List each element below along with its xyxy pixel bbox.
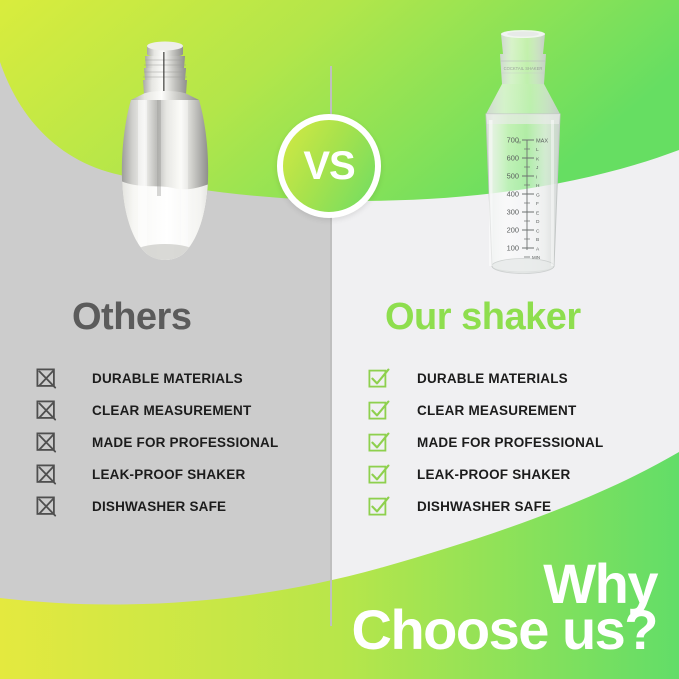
svg-text:G: G: [536, 193, 540, 199]
svg-text:C: C: [536, 229, 540, 235]
svg-text:ml: ml: [517, 141, 521, 145]
svg-text:F: F: [536, 201, 539, 207]
vs-label: VS: [303, 146, 354, 186]
shaker-cap-our: COCKTAIL SHAKER: [486, 30, 560, 114]
svg-text:H: H: [536, 183, 540, 189]
feature-label: MADE FOR PROFESSIONAL: [417, 435, 603, 450]
svg-text:MIN: MIN: [532, 255, 540, 260]
svg-text:COCKTAIL SHAKER: COCKTAIL SHAKER: [504, 66, 543, 71]
check-checkbox-icon: [368, 496, 389, 517]
svg-text:D: D: [536, 219, 540, 225]
feature-label: LEAK-PROOF SHAKER: [92, 467, 245, 482]
product-image-others: [95, 38, 235, 288]
list-item: DISHWASHER SAFE: [36, 490, 278, 522]
svg-text:L: L: [536, 147, 539, 153]
shaker-body-others: [115, 91, 219, 278]
svg-text:300: 300: [507, 208, 519, 217]
svg-text:600: 600: [507, 154, 519, 163]
list-item: MADE FOR PROFESSIONAL: [36, 426, 278, 458]
feature-label: LEAK-PROOF SHAKER: [417, 467, 570, 482]
check-checkbox-icon: [368, 432, 389, 453]
svg-text:I: I: [536, 175, 537, 181]
feature-label: MADE FOR PROFESSIONAL: [92, 435, 278, 450]
svg-text:MAX: MAX: [536, 139, 548, 145]
feature-label: CLEAR MEASUREMENT: [417, 403, 576, 418]
heading-our-shaker: Our shaker: [385, 296, 581, 339]
svg-text:E: E: [536, 211, 539, 217]
cross-checkbox-icon: [36, 464, 57, 485]
heading-others: Others: [72, 296, 191, 339]
list-item: CLEAR MEASUREMENT: [36, 394, 278, 426]
cross-checkbox-icon: [36, 400, 57, 421]
vs-badge: VS: [277, 114, 381, 218]
list-item: DISHWASHER SAFE: [368, 490, 603, 522]
list-item: DURABLE MATERIALS: [368, 362, 603, 394]
svg-text:B: B: [536, 237, 539, 243]
svg-text:200: 200: [507, 226, 519, 235]
cross-checkbox-icon: [36, 432, 57, 453]
svg-text:100: 100: [507, 244, 519, 253]
list-item: MADE FOR PROFESSIONAL: [368, 426, 603, 458]
feature-label: CLEAR MEASUREMENT: [92, 403, 251, 418]
headline-line-2: Choose us?: [352, 604, 657, 656]
shaker-cap-others: [143, 42, 187, 98]
list-item: LEAK-PROOF SHAKER: [36, 458, 278, 490]
check-checkbox-icon: [368, 400, 389, 421]
check-checkbox-icon: [368, 368, 389, 389]
feature-label: DURABLE MATERIALS: [417, 371, 568, 386]
cross-checkbox-icon: [36, 496, 57, 517]
list-item: DURABLE MATERIALS: [36, 362, 278, 394]
feature-label: DURABLE MATERIALS: [92, 371, 243, 386]
cross-checkbox-icon: [36, 368, 57, 389]
list-item: LEAK-PROOF SHAKER: [368, 458, 603, 490]
feature-label: DISHWASHER SAFE: [92, 499, 226, 514]
feature-list-our-shaker: DURABLE MATERIALS CLEAR MEASUREMENT MADE…: [368, 362, 603, 522]
svg-text:400: 400: [507, 190, 519, 199]
svg-text:500: 500: [507, 172, 519, 181]
feature-label: DISHWASHER SAFE: [417, 499, 551, 514]
check-checkbox-icon: [368, 464, 389, 485]
list-item: CLEAR MEASUREMENT: [368, 394, 603, 426]
feature-list-others: DURABLE MATERIALS CLEAR MEASUREMENT: [36, 362, 278, 522]
comparison-infographic: COCKTAIL SHAKER 700 ml MAX: [0, 0, 679, 679]
product-image-our-shaker: COCKTAIL SHAKER 700 ml MAX: [448, 28, 598, 290]
